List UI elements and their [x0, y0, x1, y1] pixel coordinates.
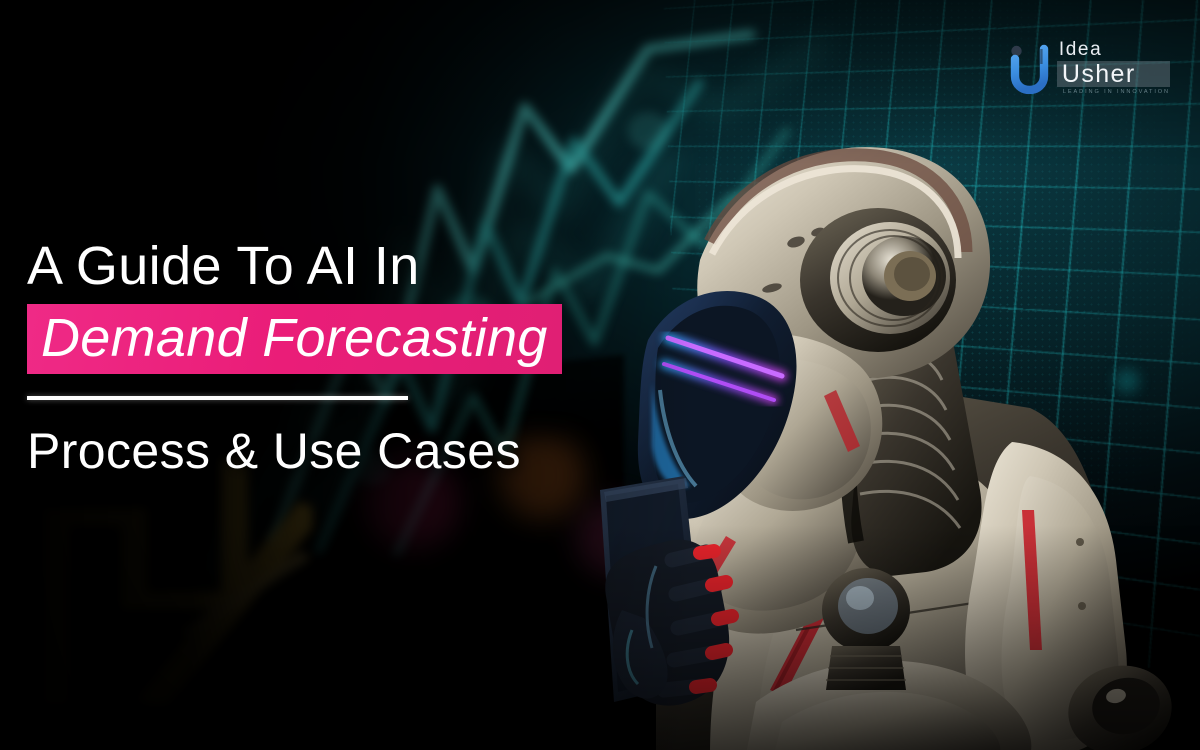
headline-line-3: Process & Use Cases — [27, 422, 707, 480]
headline-line-1: A Guide To AI In — [27, 236, 707, 296]
headline-highlight-wrapper: Demand Forecasting — [27, 304, 707, 374]
hero-banner: A Guide To AI In Demand Forecasting Proc… — [0, 0, 1200, 750]
headline-divider — [27, 396, 408, 400]
logo-wordmark: Idea Usher LEADING IN INNOVATION — [1057, 40, 1170, 96]
logo-tagline: LEADING IN INNOVATION — [1057, 88, 1170, 96]
u-logo-icon — [1008, 42, 1050, 94]
logo-name-top: Idea — [1057, 40, 1170, 60]
logo-name-bottom: Usher — [1057, 61, 1170, 87]
brand-logo[interactable]: Idea Usher LEADING IN INNOVATION — [1008, 40, 1170, 96]
headline-highlight: Demand Forecasting — [27, 304, 562, 374]
headline-block: A Guide To AI In Demand Forecasting Proc… — [27, 236, 707, 480]
